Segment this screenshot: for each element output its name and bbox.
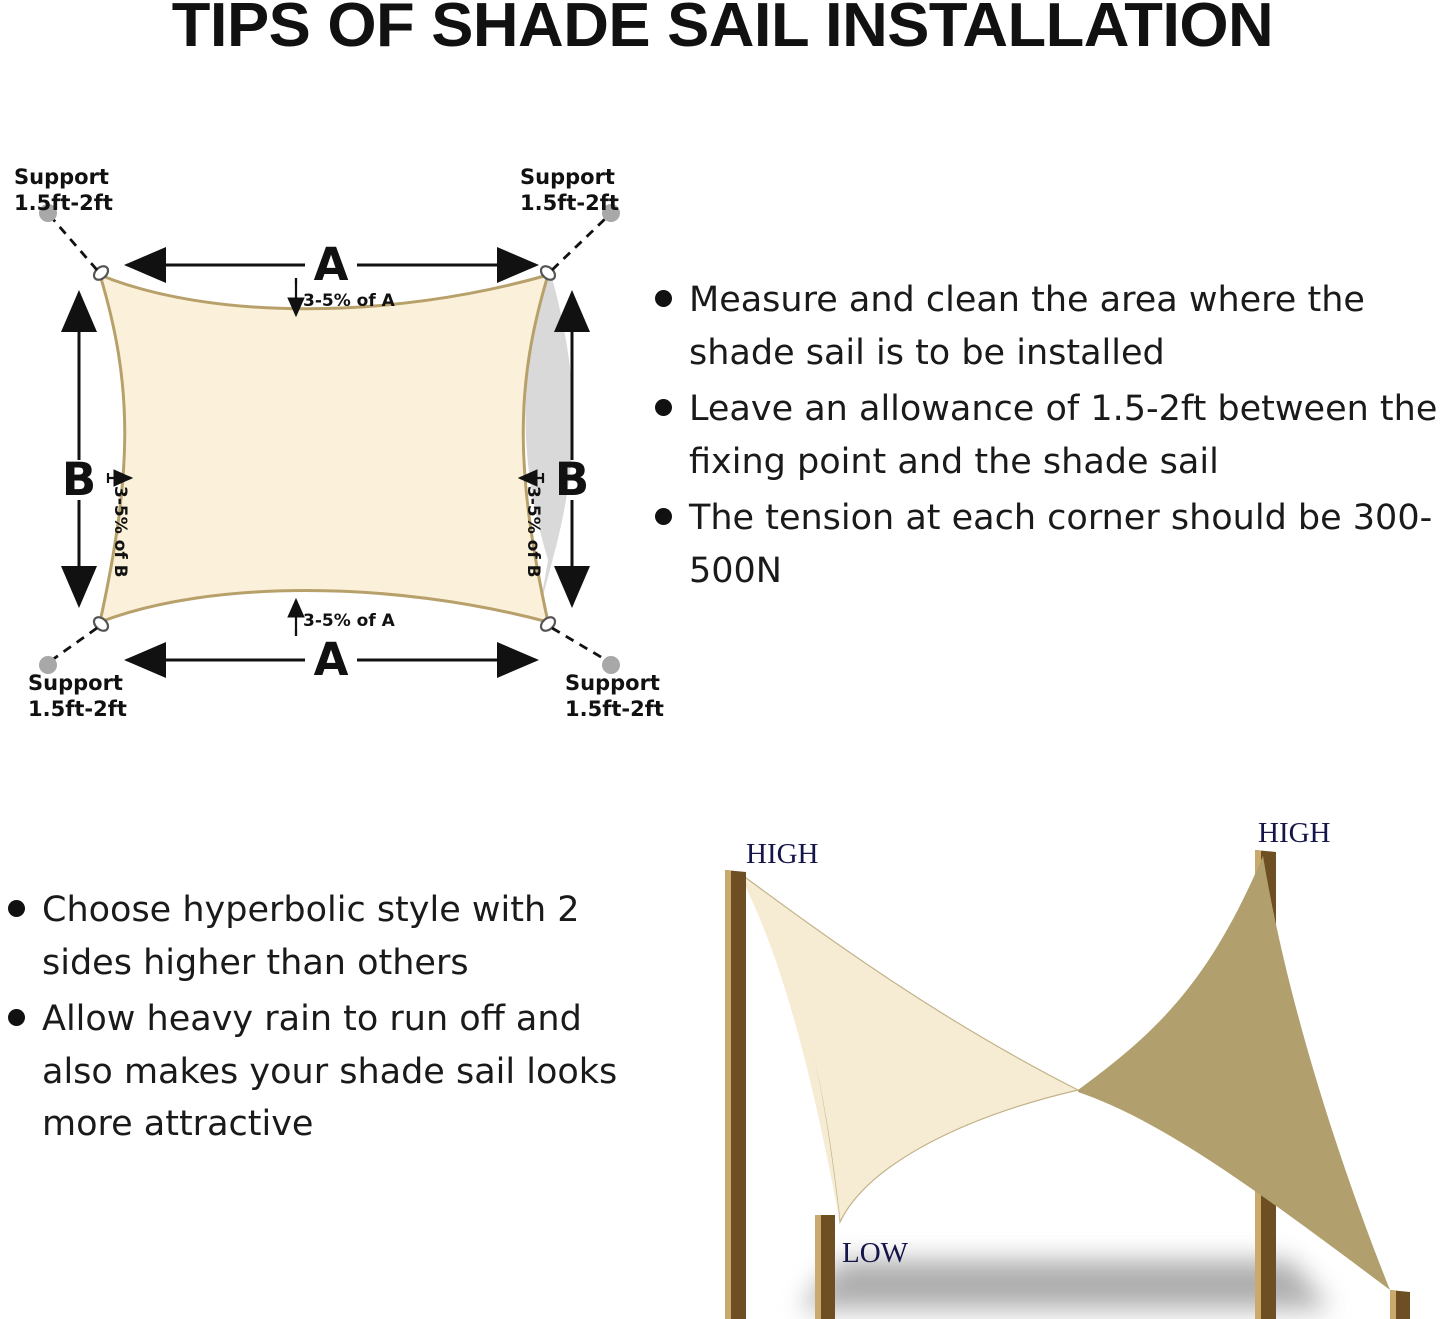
support-label-line1: Support [520, 165, 615, 189]
list-item-text: Allow heavy rain to run off and also mak… [42, 993, 638, 1151]
support-label-line2: 1.5ft-2ft [565, 697, 664, 721]
sag-percent-b-right: 3-5% of B [523, 486, 543, 578]
list-item-text: Measure and clean the area where the sha… [689, 274, 1445, 379]
dimension-a-label: A [314, 238, 349, 291]
page-title: TIPS OF SHADE SAIL INSTALLATION [0, 0, 1445, 61]
corner-label-high-right: HIGH [1258, 817, 1331, 849]
support-label-line1: Support [565, 671, 660, 695]
bullet-dot-icon [8, 1009, 25, 1026]
support-label-bottom-right: Support 1.5ft-2ft [565, 671, 664, 721]
support-label-line2: 1.5ft-2ft [28, 697, 127, 721]
support-label-top-left: Support 1.5ft-2ft [14, 165, 113, 215]
list-item-text: Choose hyperbolic style with 2 sides hig… [42, 884, 638, 989]
support-label-line1: Support [28, 671, 123, 695]
list-item: The tension at each corner should be 300… [655, 492, 1445, 597]
support-label-bottom-left: Support 1.5ft-2ft [28, 671, 127, 721]
sag-percent-a-top: 3-5% of A [303, 291, 396, 311]
tips-list-right: Measure and clean the area where the sha… [655, 274, 1445, 601]
list-item: Choose hyperbolic style with 2 sides hig… [8, 884, 638, 989]
post-high-left [725, 870, 746, 1319]
sail-light-lobe [738, 872, 1078, 1222]
list-item-text: The tension at each corner should be 300… [689, 492, 1445, 597]
support-label-top-right: Support 1.5ft-2ft [520, 165, 619, 215]
infographic-page: TIPS OF SHADE SAIL INSTALLATION [0, 0, 1445, 1319]
rectangular-sail-diagram: Support 1.5ft-2ft Support 1.5ft-2ft Supp… [0, 160, 660, 730]
post-low-left [815, 1215, 835, 1319]
tips-list-left: Choose hyperbolic style with 2 sides hig… [8, 884, 638, 1155]
sag-percent-a-bottom: 3-5% of A [303, 611, 396, 631]
support-label-line1: Support [14, 165, 109, 189]
post-low-right [1390, 1290, 1410, 1319]
list-item-text: Leave an allowance of 1.5-2ft between th… [689, 383, 1445, 488]
support-label-line2: 1.5ft-2ft [14, 191, 113, 215]
dimension-b-label: B [555, 453, 589, 506]
dimension-a-label: A [314, 633, 349, 686]
list-item: Leave an allowance of 1.5-2ft between th… [655, 383, 1445, 488]
list-item: Measure and clean the area where the sha… [655, 274, 1445, 379]
bullet-dot-icon [655, 290, 672, 307]
shade-sail-shape [100, 275, 548, 622]
bullet-dot-icon [8, 900, 25, 917]
list-item: Allow heavy rain to run off and also mak… [8, 993, 638, 1151]
hyperbolic-sail-illustration: HIGH HIGH LOW LOW [690, 790, 1445, 1319]
corner-label-high-left: HIGH [746, 838, 819, 870]
sag-percent-b-left: 3-5% of B [110, 486, 130, 578]
corner-label-low-left: LOW [842, 1237, 909, 1269]
bullet-dot-icon [655, 399, 672, 416]
support-label-line2: 1.5ft-2ft [520, 191, 619, 215]
dimension-b-label: B [62, 453, 96, 506]
bullet-dot-icon [655, 508, 672, 525]
